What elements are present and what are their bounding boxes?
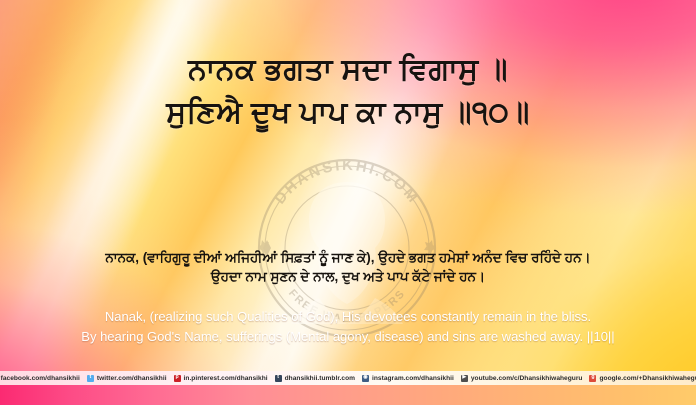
wallpaper-canvas: DHANSIKHI.COM FREE WALLPAPERS ਨਾਨਕ ਭਗਤਾ … xyxy=(0,0,696,405)
english-line-1: Nanak, (realizing such Qualities of God)… xyxy=(0,307,696,327)
social-links-bar: ffacebook.com/dhansikhiittwitter.com/dha… xyxy=(0,371,696,385)
social-link-facebook[interactable]: ffacebook.com/dhansikhii xyxy=(0,375,80,382)
pinterest-icon: p xyxy=(174,375,181,382)
social-link-label: youtube.com/c/Dhansikhiwaheguru xyxy=(471,375,583,382)
youtube-icon: ▶ xyxy=(461,375,468,382)
twitter-icon: t xyxy=(87,375,94,382)
social-link-youtube[interactable]: ▶youtube.com/c/Dhansikhiwaheguru xyxy=(461,375,583,382)
social-link-instagram[interactable]: ◉instagram.com/dhansikhii xyxy=(362,375,454,382)
google-plus-icon: g xyxy=(589,375,596,382)
english-translation: Nanak, (realizing such Qualities of God)… xyxy=(0,307,696,347)
social-link-label: google.com/+Dhansikhiwaheguru xyxy=(599,375,696,382)
social-link-label: instagram.com/dhansikhii xyxy=(372,375,454,382)
social-link-label: twitter.com/dhansikhii xyxy=(97,375,167,382)
gurmukhi-verse: ਨਾਨਕ ਭਗਤਾ ਸਦਾ ਵਿਗਾਸੁ ॥ ਸੁਣਿਐ ਦੂਖ ਪਾਪ ਕਾ … xyxy=(0,48,696,134)
punjabi-line-2: ਉਹਦਾ ਨਾਮ ਸੁਣਨ ਦੇ ਨਾਲ, ਦੁਖ ਅਤੇ ਪਾਪ ਕੱਟੇ ਜ… xyxy=(0,267,696,286)
english-line-2: By hearing God's Name, sufferings (Menta… xyxy=(0,327,696,347)
gurmukhi-line-1: ਨਾਨਕ ਭਗਤਾ ਸਦਾ ਵਿਗਾਸੁ ॥ xyxy=(0,48,696,91)
punjabi-line-1: ਨਾਨਕ, (ਵਾਹਿਗੁਰੂ ਦੀਆਂ ਅਜਿਹੀਆਂ ਸਿਫ਼ਤਾਂ ਨੂੰ… xyxy=(0,248,696,267)
social-link-tumblr[interactable]: tdhansikhii.tumblr.com xyxy=(275,375,355,382)
gurmukhi-line-2: ਸੁਣਿਐ ਦੂਖ ਪਾਪ ਕਾ ਨਾਸੁ ॥੧੦॥ xyxy=(0,91,696,134)
social-link-google-plus[interactable]: ggoogle.com/+Dhansikhiwaheguru xyxy=(589,375,696,382)
tumblr-icon: t xyxy=(275,375,282,382)
social-link-label: facebook.com/dhansikhii xyxy=(1,375,80,382)
footer-color-strip xyxy=(0,385,696,405)
punjabi-translation: ਨਾਨਕ, (ਵਾਹਿਗੁਰੂ ਦੀਆਂ ਅਜਿਹੀਆਂ ਸਿਫ਼ਤਾਂ ਨੂੰ… xyxy=(0,248,696,286)
social-link-label: dhansikhii.tumblr.com xyxy=(285,375,355,382)
social-link-pinterest[interactable]: pin.pinterest.com/dhansikhi xyxy=(174,375,268,382)
social-link-twitter[interactable]: ttwitter.com/dhansikhii xyxy=(87,375,167,382)
instagram-icon: ◉ xyxy=(362,375,369,382)
social-link-label: in.pinterest.com/dhansikhi xyxy=(184,375,268,382)
